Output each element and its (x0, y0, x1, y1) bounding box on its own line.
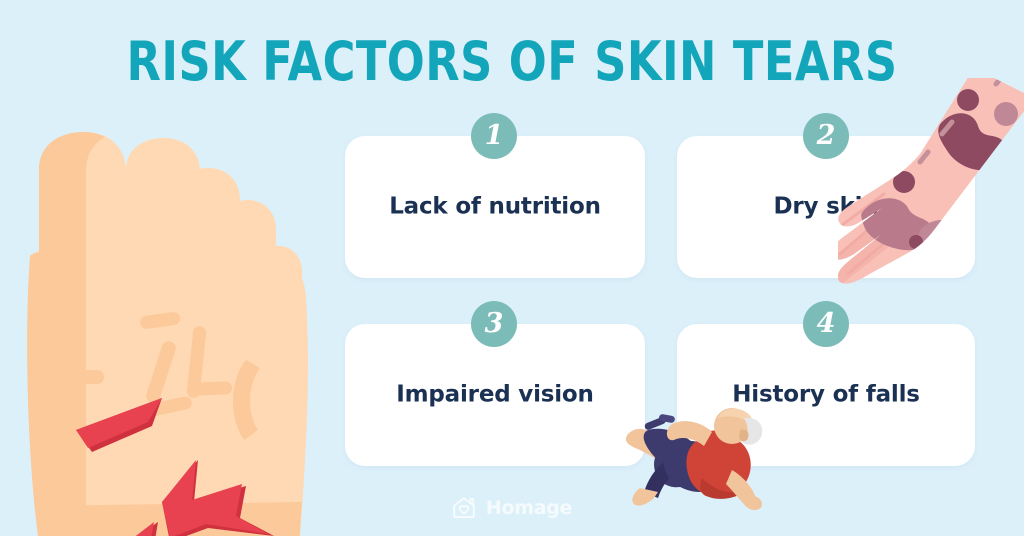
risk-factor-label: Impaired vision (345, 381, 645, 407)
bruised-arm-illustration (838, 78, 1024, 313)
logo-text: Homage (486, 497, 572, 519)
infographic-canvas: RISK FACTORS OF SKIN TEARS Lack of nutri… (0, 0, 1024, 536)
risk-factor-label: Lack of nutrition (345, 193, 645, 219)
homage-logo: Homage (0, 496, 1024, 520)
step-number-badge-1: 1 (471, 113, 517, 159)
house-heart-icon (452, 496, 478, 520)
step-number-badge-3: 3 (471, 301, 517, 347)
foot-with-skin-tears-illustration (0, 130, 314, 536)
